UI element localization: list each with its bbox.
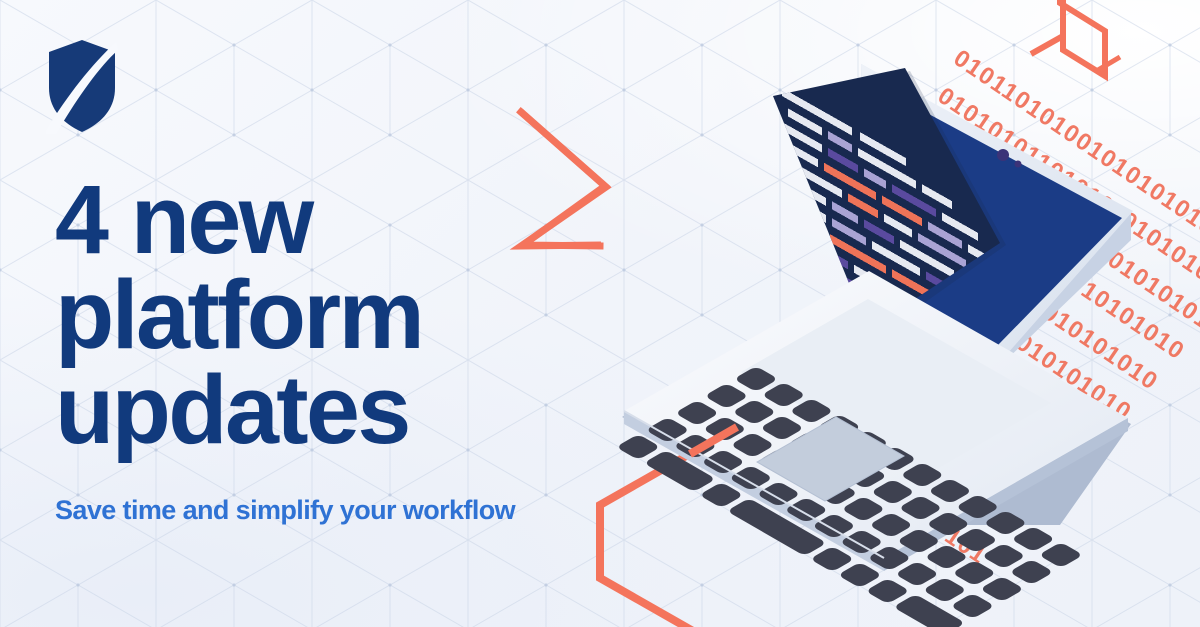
hero-banner: 4 new platform updates Save time and sim… <box>0 0 1200 627</box>
coral-zigzag-left <box>520 111 606 246</box>
coral-step-path <box>1060 0 1105 76</box>
webcam-dot <box>997 149 1009 161</box>
laptop-illustration: 01011010100101010101010 0101010110101010… <box>0 0 1200 627</box>
